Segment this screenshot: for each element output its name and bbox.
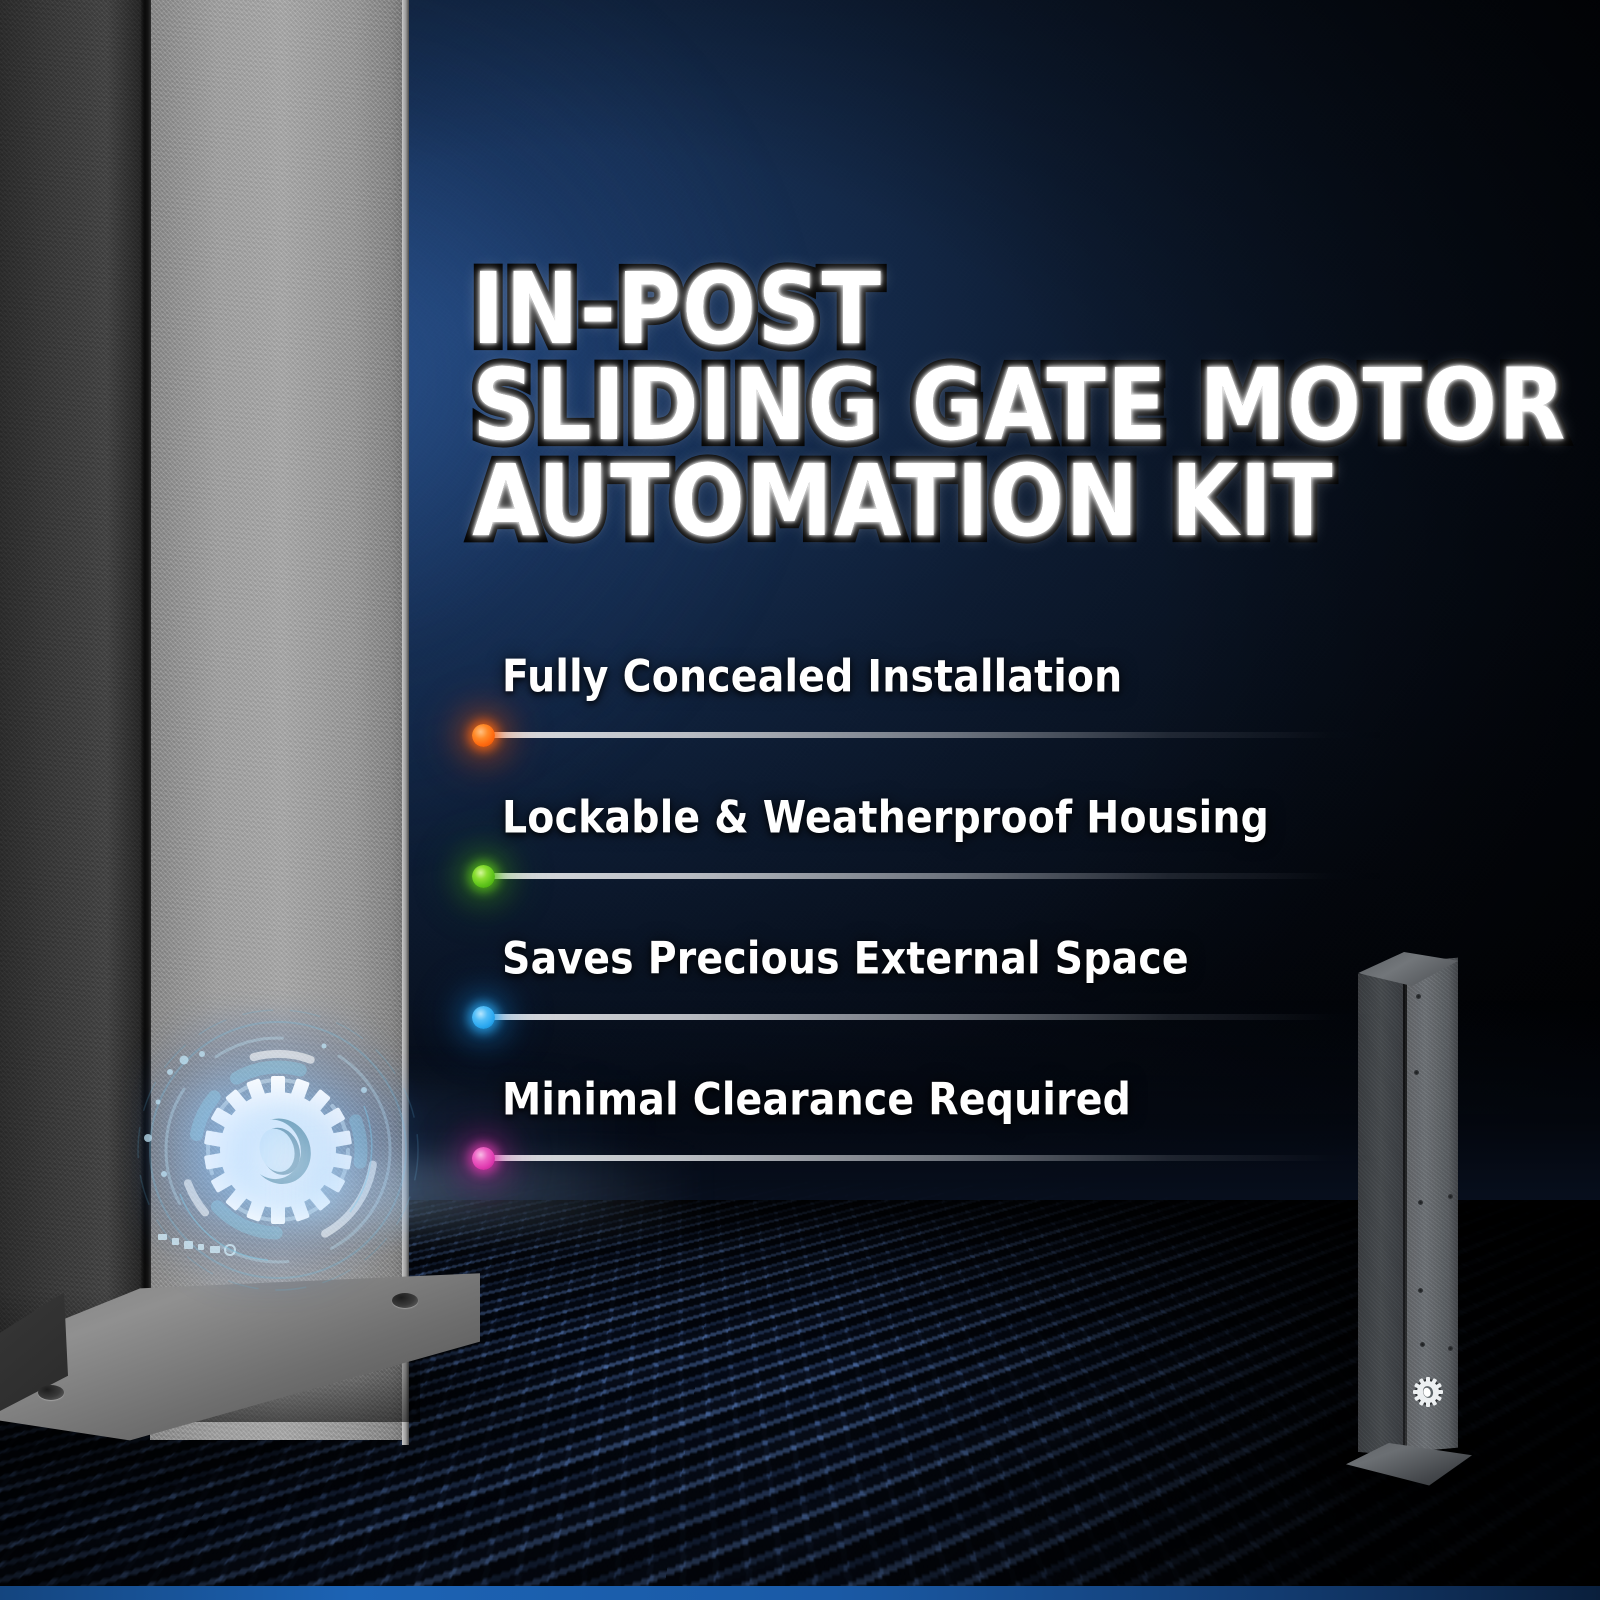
- feature-item: Lockable & Weatherproof Housing: [472, 789, 1432, 930]
- holo-core-glow: [210, 1086, 360, 1236]
- feature-label: Saves Precious External Space: [502, 930, 1189, 988]
- product-gear-badge: [1406, 1370, 1450, 1414]
- product-post-fixing-hole: [1448, 1346, 1453, 1351]
- feature-item: Saves Precious External Space: [472, 930, 1432, 1071]
- page-title: IN-POST SLIDING GATE MOTOR AUTOMATION KI…: [472, 252, 1482, 540]
- feature-rule: [492, 1014, 1382, 1020]
- title-line-3: AUTOMATION KIT: [472, 444, 1522, 557]
- holographic-gear-graphic: [118, 998, 438, 1308]
- product-post-fixing-hole: [1448, 1194, 1453, 1199]
- feature-rule: [492, 873, 1382, 879]
- feature-label: Lockable & Weatherproof Housing: [502, 789, 1269, 847]
- feature-bullet-dot-orange: [472, 724, 495, 747]
- feature-bullet-dot-magenta: [472, 1147, 495, 1170]
- feature-label: Fully Concealed Installation: [502, 648, 1122, 706]
- gear-icon: [1406, 1370, 1450, 1414]
- holo-tick-marks: [158, 1234, 235, 1255]
- base-bolt-hole: [38, 1385, 64, 1400]
- bottom-accent-strip: [0, 1586, 1600, 1600]
- feature-bullet-dot-green: [472, 865, 495, 888]
- feature-list: Fully Concealed Installation Lockable & …: [472, 648, 1432, 1212]
- feature-rule: [492, 1155, 1382, 1161]
- feature-item: Minimal Clearance Required: [472, 1071, 1432, 1212]
- product-post-fixing-hole: [1420, 1342, 1425, 1347]
- feature-rule: [492, 732, 1382, 738]
- feature-bullet-dot-blue: [472, 1006, 495, 1029]
- promo-banner: IN-POST SLIDING GATE MOTOR AUTOMATION KI…: [0, 0, 1600, 1600]
- product-post-fixing-hole: [1418, 1288, 1423, 1293]
- feature-label: Minimal Clearance Required: [502, 1071, 1131, 1129]
- feature-item: Fully Concealed Installation: [472, 648, 1432, 789]
